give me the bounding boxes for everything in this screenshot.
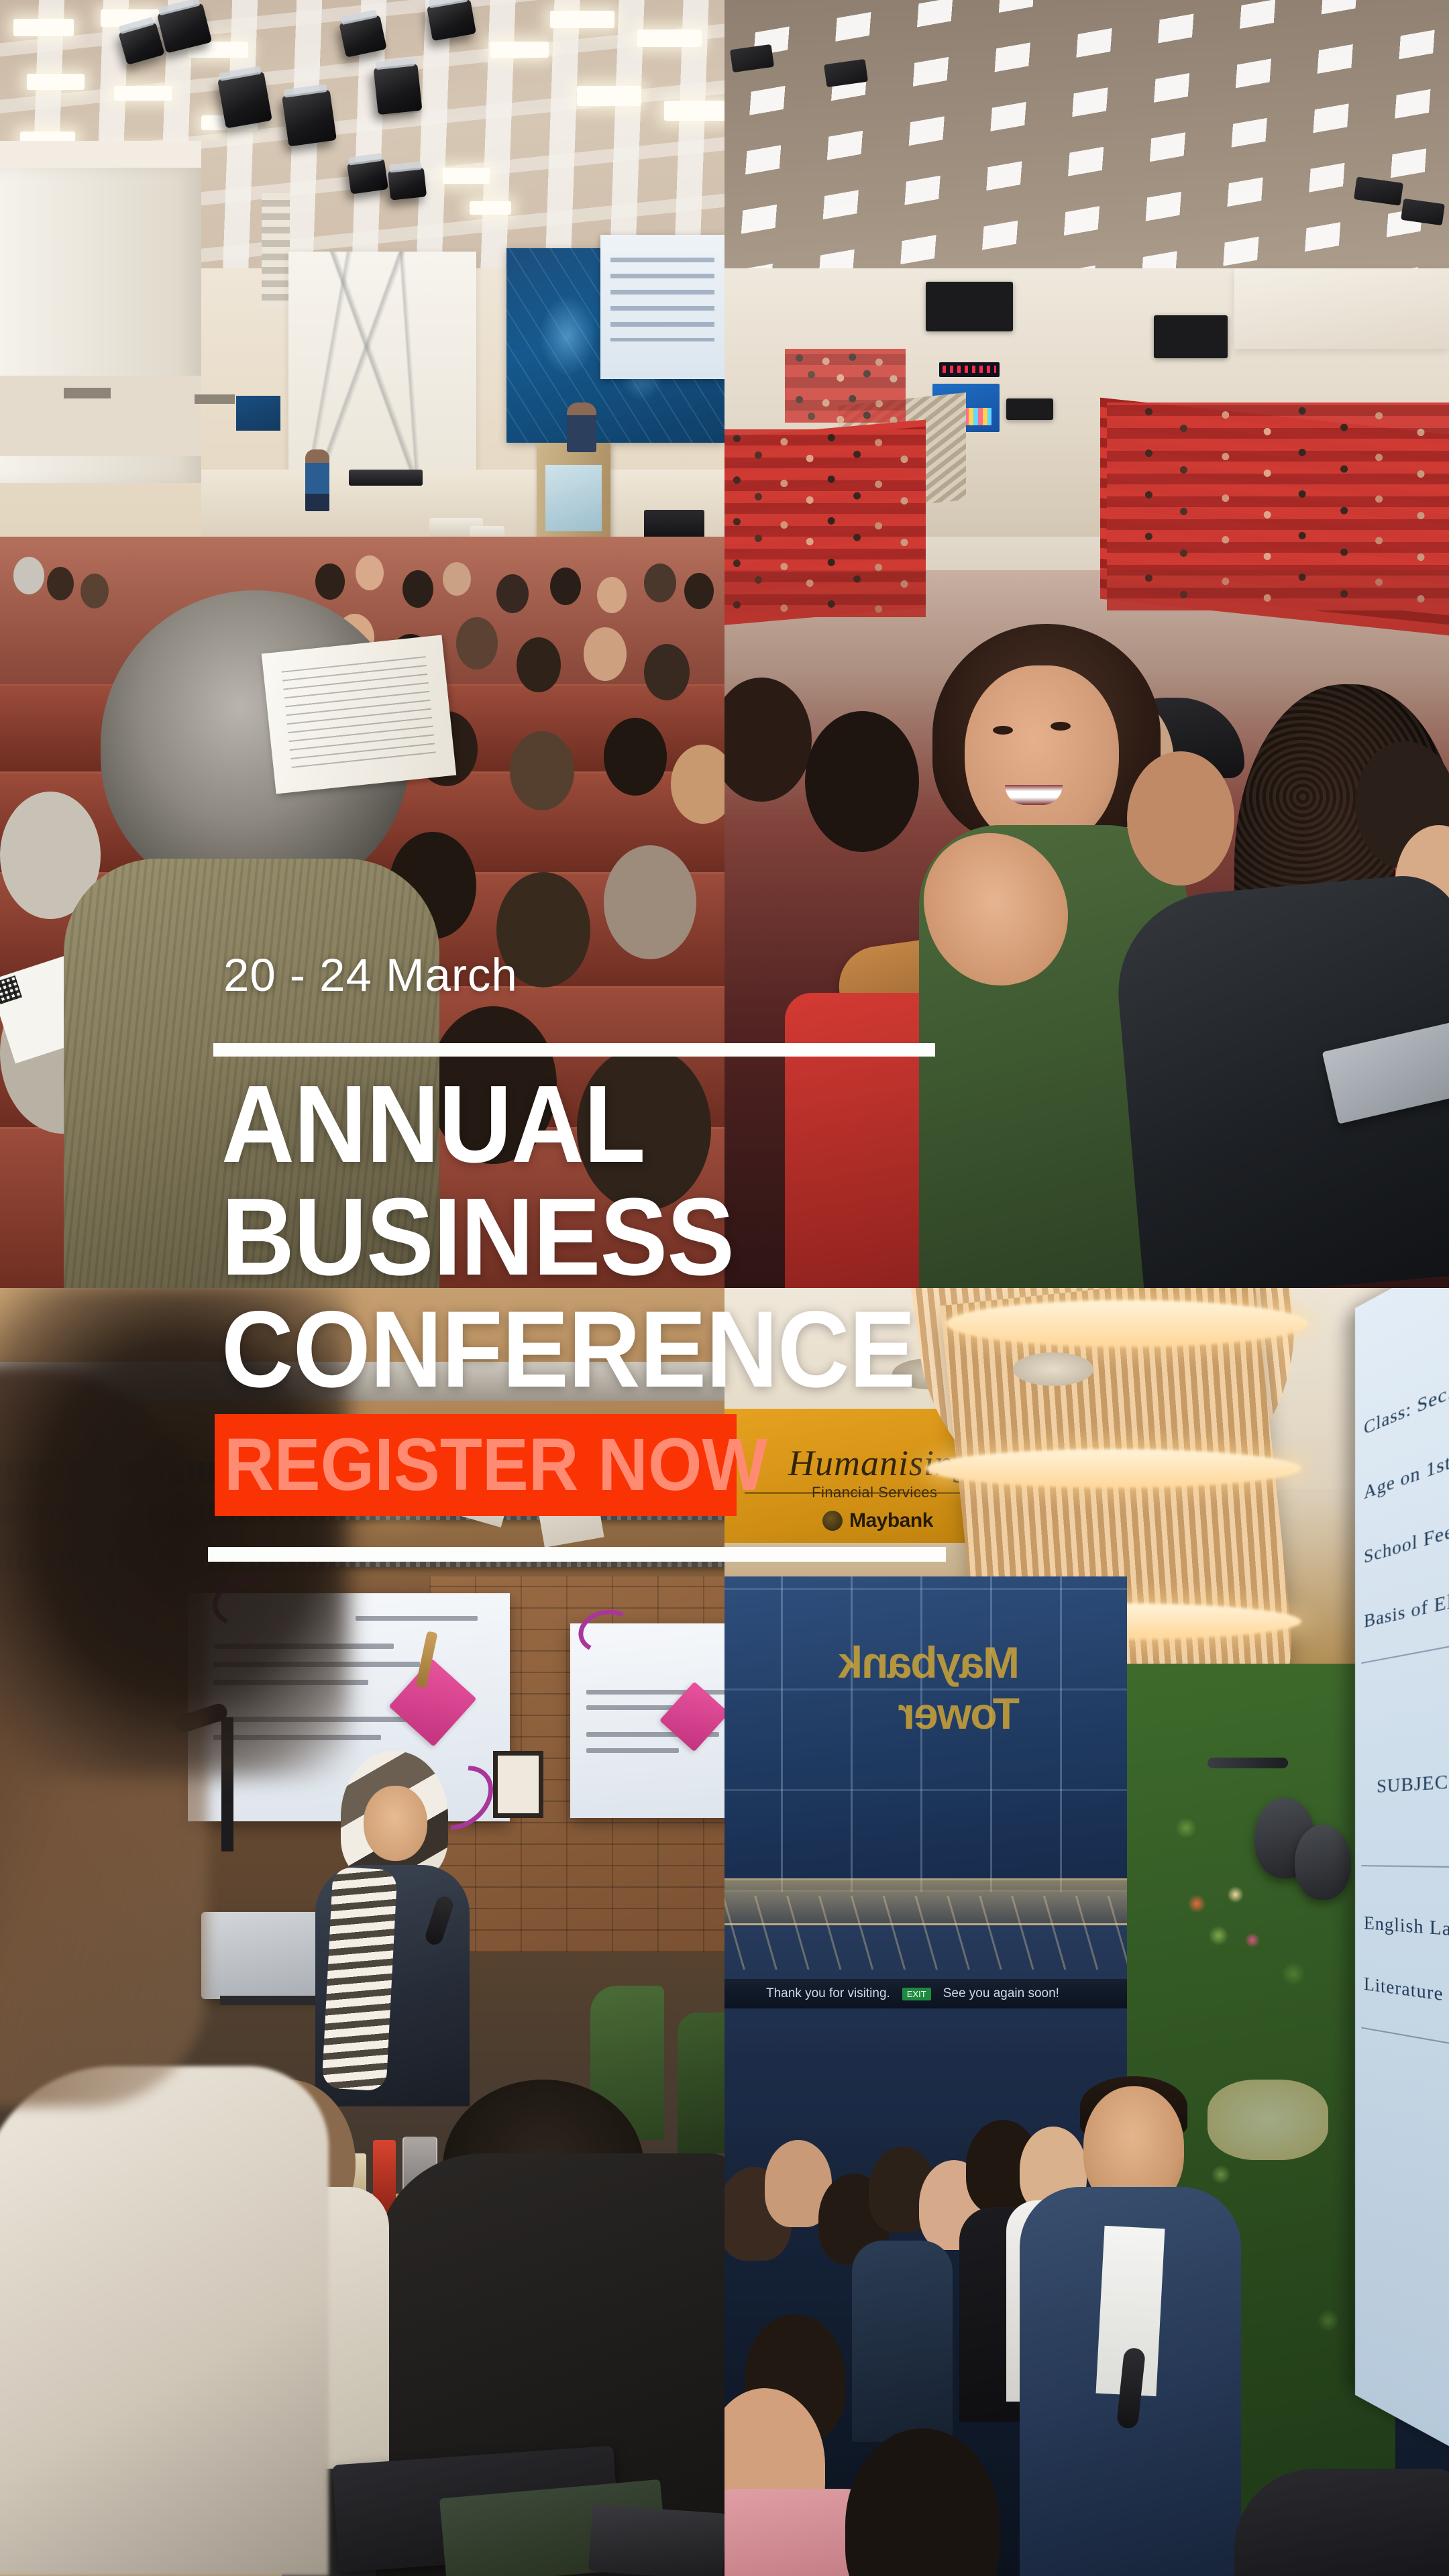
- photo-top-left: [0, 0, 724, 1288]
- info-line-5: SUBJEC: [1377, 1771, 1448, 1798]
- maybank-logo-icon: [822, 1511, 843, 1531]
- mirrored-window-text: Maybank Tower: [738, 1637, 1020, 1724]
- info-line-4: Basis of Eli: [1364, 1589, 1449, 1632]
- info-line-7: Literature: [1364, 1974, 1444, 2006]
- maybank-subtagline: Financial Services: [812, 1484, 938, 1501]
- maybank-brand-lockup: Maybank: [822, 1509, 933, 1532]
- conference-poster: Humanising Financial Services Maybank Ma…: [0, 0, 1449, 2576]
- exit-sign: EXIT: [902, 1988, 931, 2000]
- info-board: Class: Sec. Age on 1st School Fees Basis…: [1355, 1288, 1449, 2455]
- notice-left-text: Thank you for visiting.: [766, 1986, 890, 2001]
- mall-notice-bar: Thank you for visiting. EXIT See you aga…: [724, 1979, 1127, 2008]
- photo-collage: Humanising Financial Services Maybank Ma…: [0, 0, 1449, 2576]
- photo-top-right: [724, 0, 1449, 1288]
- maybank-brand-name: Maybank: [849, 1509, 933, 1532]
- info-line-1: Class: Sec.: [1364, 1380, 1449, 1440]
- info-line-6: English Languag: [1364, 1913, 1449, 1945]
- photo-bottom-right: Humanising Financial Services Maybank Ma…: [724, 1288, 1449, 2576]
- info-line-3: School Fees: [1364, 1517, 1449, 1568]
- photo-bottom-left: [0, 1288, 724, 2576]
- notice-right-text: See you again soon!: [943, 1986, 1059, 2001]
- info-line-2: Age on 1st: [1364, 1450, 1449, 1503]
